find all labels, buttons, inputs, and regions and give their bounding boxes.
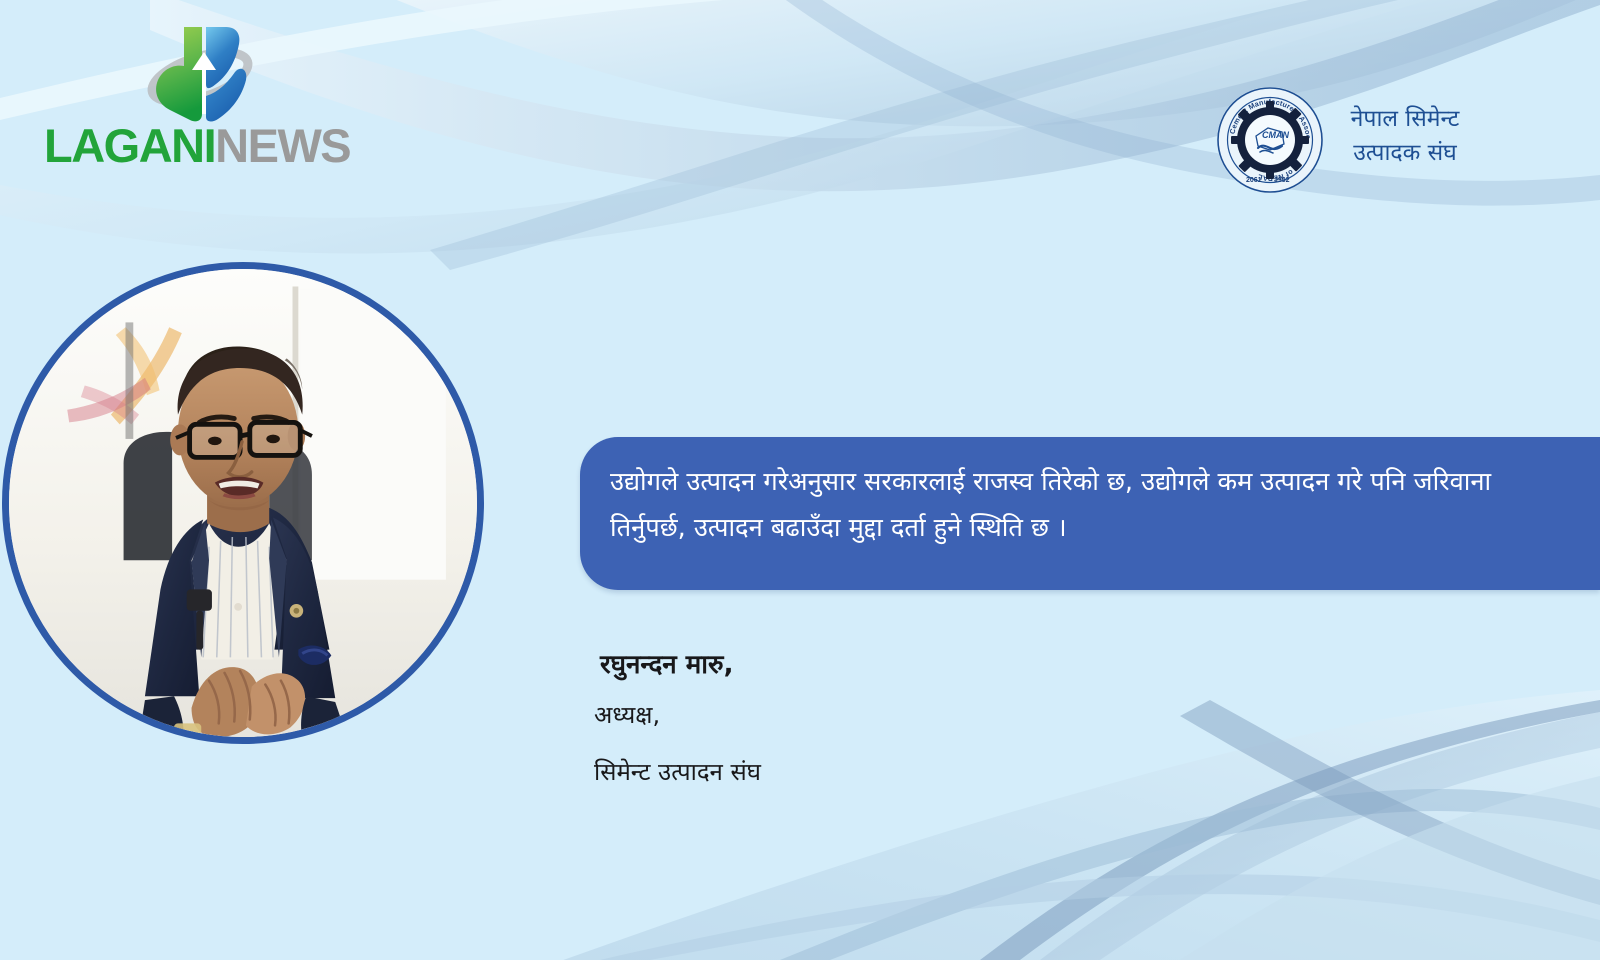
association-name-line-1: नेपाल सिमेन्ट: [1334, 102, 1476, 136]
cement-association-branding[interactable]: Cement Manufacturers Association of NEPA…: [1216, 86, 1476, 194]
speaker-name: रघुनन्दन मारु,: [594, 644, 1194, 686]
quote-banner: उद्योगले उत्पादन गरेअनुसार सरकारलाई राजस…: [580, 437, 1600, 590]
quote-card-canvas: LAGANINEWS Cement Manufacturers Associat…: [0, 0, 1600, 960]
lagani-news-logo[interactable]: LAGANINEWS: [44, 22, 344, 172]
speaker-portrait: [2, 262, 484, 744]
logo-word-news: NEWS: [215, 119, 350, 172]
association-name: नेपाल सिमेन्ट उत्पादक संघ: [1334, 102, 1476, 170]
speaker-role: अध्यक्ष,: [594, 686, 1194, 744]
logo-wordmark: LAGANINEWS: [44, 120, 344, 172]
svg-text:2061: 2061: [1246, 177, 1262, 184]
speaker-photo: [9, 269, 477, 737]
cement-manufacturers-association-seal-icon: Cement Manufacturers Association of NEPA…: [1216, 86, 1324, 194]
logo-word-lagani: LAGANI: [44, 119, 215, 172]
speaker-organization: सिमेन्ट उत्पादन संघ: [594, 744, 1194, 800]
quote-text: उद्योगले उत्पादन गरेअनुसार सरकारलाई राजस…: [610, 459, 1560, 551]
association-name-line-2: उत्पादक संघ: [1334, 136, 1476, 170]
svg-text:CMAN: CMAN: [1262, 130, 1289, 140]
attribution-block: रघुनन्दन मारु, अध्यक्ष, सिमेन्ट उत्पादन …: [594, 644, 1194, 800]
lagani-swoosh-arrow-logo-mark: [140, 22, 260, 124]
svg-text:1992: 1992: [1274, 177, 1290, 184]
